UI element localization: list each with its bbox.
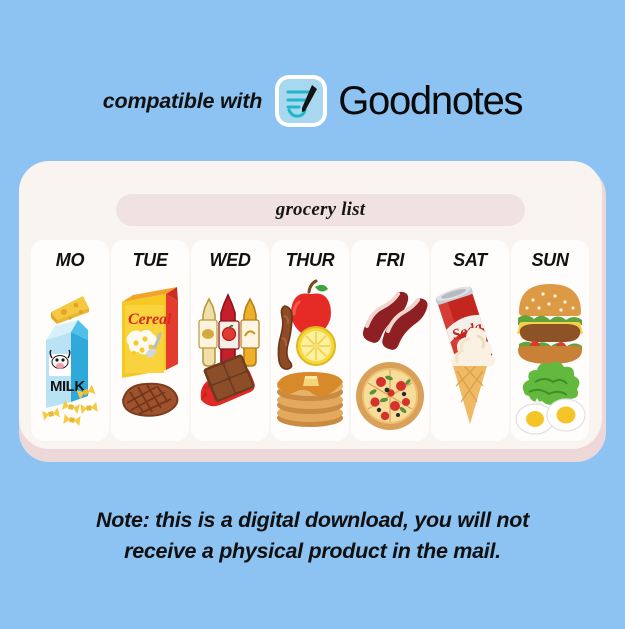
pizza-icon xyxy=(356,362,424,430)
day-items-fri xyxy=(351,274,429,441)
grocery-planner-card: grocery list MO xyxy=(19,161,602,449)
goodnotes-app-icon xyxy=(275,75,327,127)
day-items-wed xyxy=(191,274,269,441)
day-items-thur xyxy=(271,274,349,441)
day-column-thur[interactable]: THUR xyxy=(271,240,349,441)
mayonnaise-bottle-icon xyxy=(199,299,217,366)
cheese-wedge-icon xyxy=(51,296,89,324)
day-items-mo: MILK xyxy=(31,274,109,441)
day-column-sat[interactable]: SAT Soda xyxy=(431,240,509,441)
day-column-fri[interactable]: FRI xyxy=(351,240,429,441)
lemon-slice-icon xyxy=(297,327,335,365)
days-row: MO xyxy=(31,240,593,441)
disclaimer-note: Note: this is a digital download, you wi… xyxy=(0,505,625,567)
day-column-mo[interactable]: MO xyxy=(31,240,109,441)
day-label-thur: THUR xyxy=(271,250,349,271)
day-label-sun: SUN xyxy=(511,250,589,271)
hamburger-icon xyxy=(517,284,583,364)
day-label-tue: TUE xyxy=(111,250,189,271)
day-label-fri: FRI xyxy=(351,250,429,271)
svg-text:Cereal: Cereal xyxy=(128,311,172,328)
goodnotes-logo: Goodnotes xyxy=(275,75,522,127)
cereal-box-icon: Cereal xyxy=(122,287,178,378)
day-items-tue: Cereal xyxy=(111,274,189,441)
day-items-sun xyxy=(511,274,589,441)
goodnotes-wordmark: Goodnotes xyxy=(338,81,522,121)
compatible-with-label: compatible with xyxy=(103,89,262,114)
mustard-bottle-icon xyxy=(241,299,259,366)
ketchup-bottle-icon xyxy=(219,295,239,366)
day-column-wed[interactable]: WED xyxy=(191,240,269,441)
day-label-mo: MO xyxy=(31,250,109,271)
bacon-strips-icon xyxy=(363,292,428,350)
grocery-list-title-pill: grocery list xyxy=(116,194,525,226)
pancake-stack-icon xyxy=(277,372,343,427)
disclaimer-note-line-2: receive a physical product in the mail. xyxy=(0,536,625,567)
sausage-icon xyxy=(278,306,292,369)
disclaimer-note-line-1: Note: this is a digital download, you wi… xyxy=(0,505,625,536)
compatibility-header: compatible with Goodnotes xyxy=(0,72,625,130)
day-column-sun[interactable]: SUN xyxy=(511,240,589,441)
day-label-sat: SAT xyxy=(431,250,509,271)
day-label-wed: WED xyxy=(191,250,269,271)
page-title: grocery list xyxy=(276,199,365,221)
steak-icon xyxy=(123,384,177,416)
day-items-sat: Soda xyxy=(431,274,509,441)
day-column-tue[interactable]: TUE Cereal xyxy=(111,240,189,441)
